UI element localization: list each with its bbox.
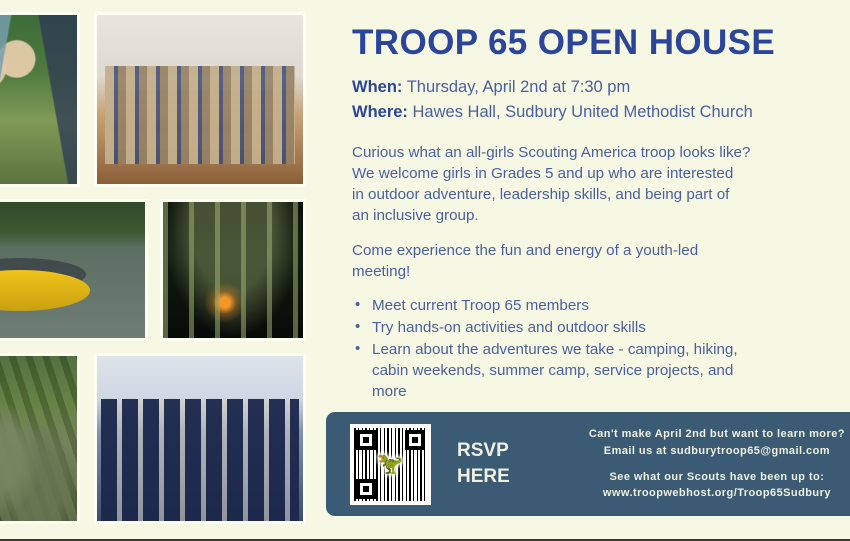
list-item: Learn about the adventures we take - cam…	[352, 340, 850, 403]
rsvp-email[interactable]: Email us at sudburytroop65@gmail.com	[558, 443, 850, 460]
open-house-flyer: TROOP 65 OPEN HOUSE When: Thursday, Apri…	[0, 0, 850, 541]
rsvp-info-line3: See what our Scouts have been up to:	[558, 469, 850, 486]
content-column: TROOP 65 OPEN HOUSE When: Thursday, Apri…	[352, 0, 850, 541]
photo-stream	[0, 353, 80, 524]
photo-troop-group-image	[97, 15, 303, 184]
rsvp-contact-info: Can't make April 2nd but want to learn m…	[558, 426, 850, 502]
qr-finder-bottom-left-icon	[356, 479, 376, 499]
when-value: Thursday, April 2nd at 7:30 pm	[407, 78, 630, 96]
dinosaur-icon: 🦖	[377, 454, 403, 475]
rsvp-info-line1: Can't make April 2nd but want to learn m…	[558, 426, 850, 443]
photo-rafting	[0, 199, 148, 341]
rsvp-website-link[interactable]: www.troopwebhost.org/Troop65Sudbury	[558, 485, 850, 502]
activities-list: Meet current Troop 65 members Try hands-…	[352, 296, 850, 403]
photo-hike-girls	[0, 12, 80, 187]
intro-paragraph: Curious what an all-girls Scouting Ameri…	[352, 143, 850, 227]
list-item: Meet current Troop 65 members	[352, 296, 850, 317]
rsvp-panel: 🦖 RSVP HERE Can't make April 2nd but wan…	[326, 412, 850, 516]
rsvp-info-spacer	[558, 460, 850, 469]
where-label: Where:	[352, 103, 408, 121]
detail-where: Where: Hawes Hall, Sudbury United Method…	[352, 101, 850, 124]
when-label: When:	[352, 78, 402, 96]
rsvp-here-label: RSVP HERE	[457, 438, 510, 490]
photo-hike-girls-image	[0, 15, 77, 184]
photo-tshirts-image	[97, 356, 303, 521]
photo-tshirts	[94, 353, 306, 524]
qr-finder-top-left-icon	[356, 430, 376, 450]
where-value: Hawes Hall, Sudbury United Methodist Chu…	[413, 103, 753, 121]
photo-stream-image	[0, 356, 77, 521]
qr-code[interactable]: 🦖	[350, 424, 431, 505]
page-title: TROOP 65 OPEN HOUSE	[352, 0, 850, 62]
photo-grid	[0, 12, 318, 524]
qr-finder-top-right-icon	[405, 430, 425, 450]
detail-when: When: Thursday, April 2nd at 7:30 pm	[352, 76, 850, 99]
rsvp-here-line2: HERE	[457, 464, 510, 490]
photo-campfire-image	[163, 202, 303, 338]
photo-troop-group	[94, 12, 306, 187]
photo-rafting-image	[0, 202, 145, 338]
rsvp-here-line1: RSVP	[457, 438, 510, 464]
photo-campfire	[160, 199, 306, 341]
list-item: Try hands-on activities and outdoor skil…	[352, 318, 850, 339]
come-paragraph: Come experience the fun and energy of a …	[352, 241, 850, 283]
